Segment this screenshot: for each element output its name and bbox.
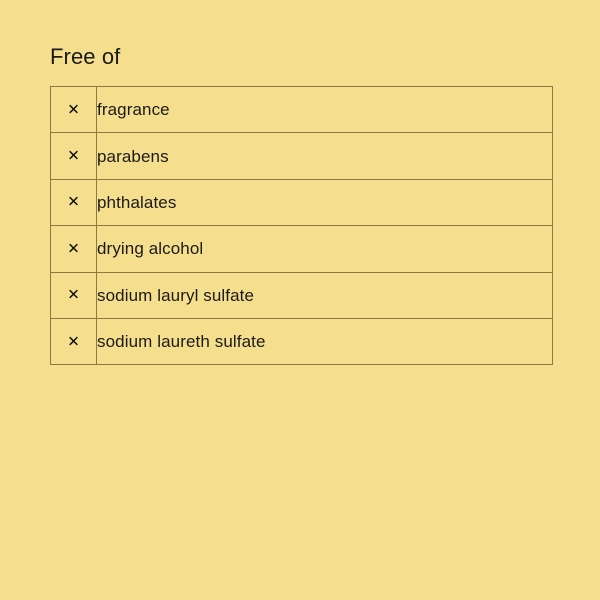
x-mark-icon: ✕ [67, 102, 80, 117]
x-mark-icon: ✕ [67, 149, 80, 164]
x-mark-icon: ✕ [67, 241, 80, 256]
table-row: ✕ sodium lauryl sulfate [51, 272, 553, 318]
free-of-table: ✕ fragrance ✕ parabens ✕ phthalates ✕ [50, 86, 553, 365]
table-cell-icon: ✕ [51, 87, 97, 133]
table-cell-label: parabens [97, 133, 553, 179]
table-row: ✕ fragrance [51, 87, 553, 133]
table-cell-icon: ✕ [51, 133, 97, 179]
table-cell-icon: ✕ [51, 179, 97, 225]
table-row: ✕ drying alcohol [51, 226, 553, 272]
table-cell-label: sodium lauryl sulfate [97, 272, 553, 318]
x-mark-icon: ✕ [67, 288, 80, 303]
x-mark-icon: ✕ [67, 195, 80, 210]
table-row: ✕ sodium laureth sulfate [51, 318, 553, 364]
table-cell-label: fragrance [97, 87, 553, 133]
table-row: ✕ parabens [51, 133, 553, 179]
page-title: Free of [50, 44, 120, 70]
table-cell-icon: ✕ [51, 272, 97, 318]
table-cell-icon: ✕ [51, 318, 97, 364]
table-cell-label: drying alcohol [97, 226, 553, 272]
free-of-panel: Free of ✕ fragrance ✕ parabens ✕ phthala… [0, 0, 600, 600]
x-mark-icon: ✕ [67, 334, 80, 349]
table-cell-label: sodium laureth sulfate [97, 318, 553, 364]
free-of-table-body: ✕ fragrance ✕ parabens ✕ phthalates ✕ [51, 87, 553, 365]
table-row: ✕ phthalates [51, 179, 553, 225]
table-cell-label: phthalates [97, 179, 553, 225]
table-cell-icon: ✕ [51, 226, 97, 272]
